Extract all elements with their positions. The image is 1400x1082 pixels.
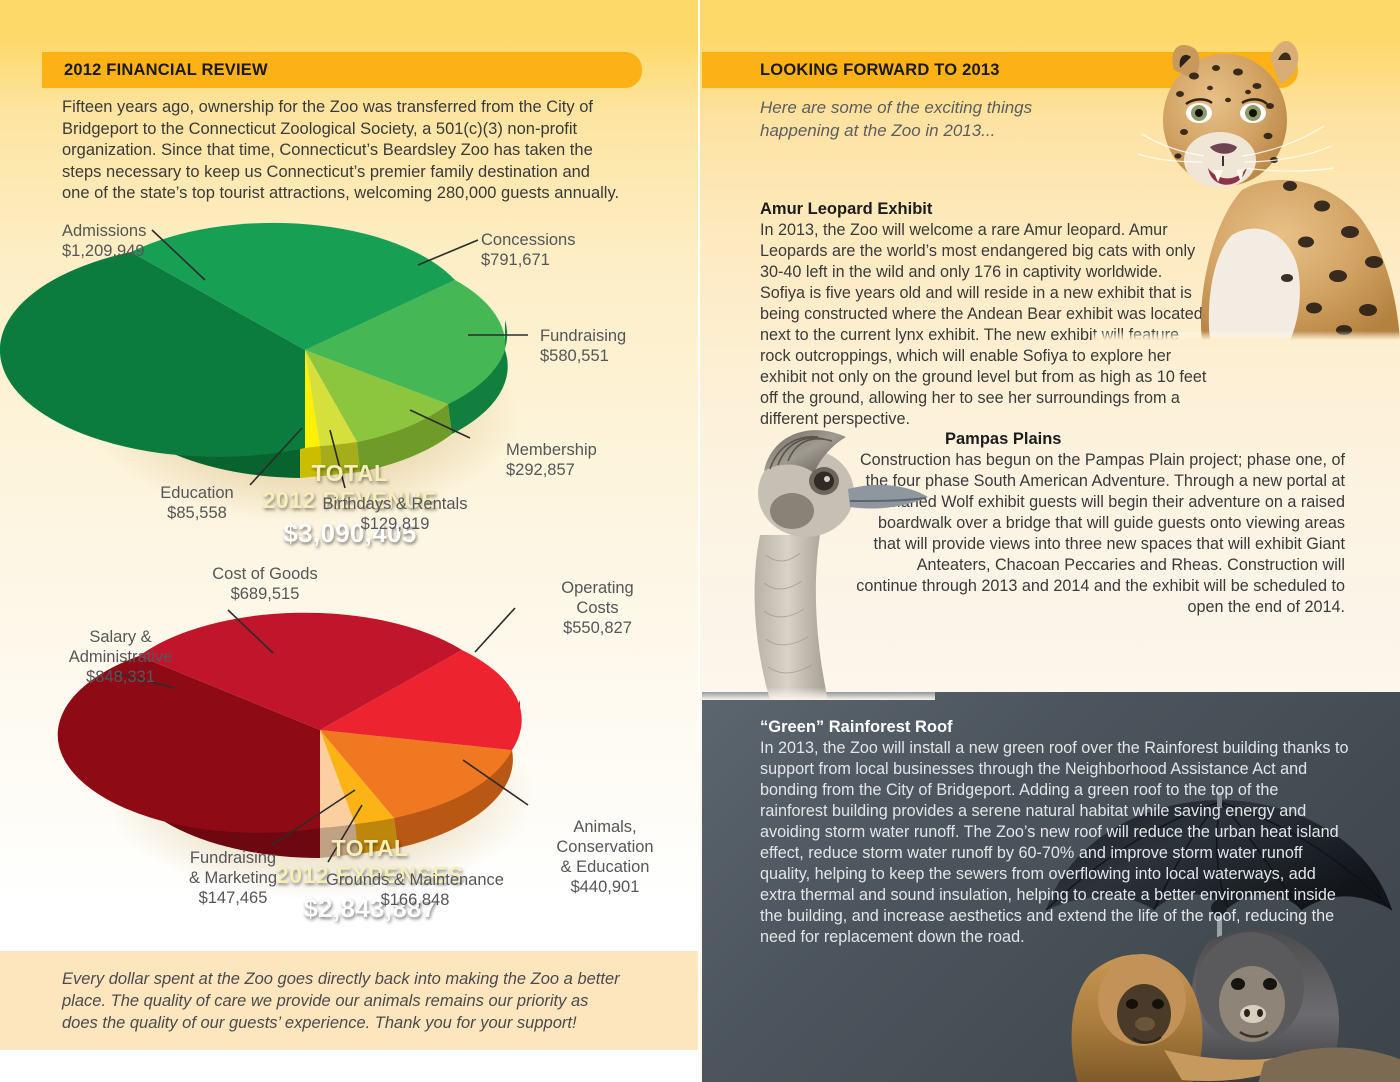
revenue-side-education bbox=[300, 446, 322, 478]
revenue-label-membership-value: $292,857 bbox=[506, 461, 575, 479]
pampas-plains-body: Construction has begun on the Pampas Pla… bbox=[855, 450, 1345, 618]
expenses-leader-operating bbox=[475, 608, 515, 652]
expenses-label-grounds-name: Grounds & Maintenance bbox=[326, 871, 504, 889]
revenue-label-fundraising-value: $580,551 bbox=[540, 347, 609, 365]
revenue-label-education-name: Education bbox=[160, 484, 233, 502]
revenue-label-concessions-value: $791,671 bbox=[481, 251, 550, 269]
revenue-label-birthdays-value: $129,819 bbox=[361, 515, 430, 533]
expenses-label-salary-value: $848,331 bbox=[86, 668, 155, 686]
expenses-label-cost-of-goods-value: $689,515 bbox=[231, 585, 300, 603]
pampas-plains-title: Pampas Plains bbox=[855, 430, 1345, 449]
financial-review-header-bar: 2012 FINANCIAL REVIEW bbox=[42, 52, 642, 88]
expenses-label-operating: Operating Costs $550,827 bbox=[545, 578, 650, 638]
column-divider bbox=[698, 0, 700, 1082]
left-column: 2012 FINANCIAL REVIEW Fifteen years ago,… bbox=[0, 0, 700, 1082]
expenses-label-animals: Animals, Conservation & Education $440,9… bbox=[540, 817, 670, 897]
expenses-label-fundraising-value: $147,465 bbox=[199, 889, 268, 907]
revenue-label-fundraising: Fundraising $580,551 bbox=[540, 326, 626, 366]
expenses-label-operating-line2: Costs bbox=[576, 599, 618, 617]
expenses-label-animals-value: $440,901 bbox=[571, 878, 640, 896]
revenue-leader-concessions bbox=[418, 240, 478, 265]
looking-forward-header-title: LOOKING FORWARD TO 2013 bbox=[702, 61, 1000, 80]
financial-review-intro-paragraph: Fifteen years ago, ownership for the Zoo… bbox=[62, 97, 622, 205]
thank-you-footer-band: Every dollar spent at the Zoo goes direc… bbox=[0, 951, 700, 1050]
pampas-plains-section: Pampas Plains Construction has begun on … bbox=[855, 430, 1345, 618]
revenue-label-fundraising-name: Fundraising bbox=[540, 327, 626, 345]
expenses-label-grounds-value: $166,848 bbox=[381, 891, 450, 909]
revenue-label-membership-name: Membership bbox=[506, 441, 597, 459]
expenses-side-fundraising-marketing bbox=[320, 824, 358, 858]
amur-leopard-section: Amur Leopard Exhibit In 2013, the Zoo wi… bbox=[760, 200, 1210, 430]
green-roof-title: “Green” Rainforest Roof bbox=[760, 718, 1350, 737]
expenses-label-fundraising-line2: & Marketing bbox=[189, 869, 277, 887]
revenue-label-concessions: Concessions $791,671 bbox=[481, 230, 575, 270]
expenses-label-animals-line1: Animals, bbox=[573, 818, 636, 836]
expenses-label-animals-line2: Conservation bbox=[556, 838, 653, 856]
right-column: LOOKING FORWARD TO 2013 Here are some of… bbox=[700, 0, 1400, 1082]
expenses-label-grounds: Grounds & Maintenance $166,848 bbox=[315, 870, 515, 910]
expenses-label-animals-line3: & Education bbox=[561, 858, 650, 876]
expenses-label-salary: Salary & Administrative $848,331 bbox=[58, 627, 183, 687]
green-roof-panel: “Green” Rainforest Roof In 2013, the Zoo… bbox=[702, 692, 1400, 1082]
green-roof-section: “Green” Rainforest Roof In 2013, the Zoo… bbox=[760, 718, 1350, 948]
brochure-page: 2012 FINANCIAL REVIEW Fifteen years ago,… bbox=[0, 0, 1400, 1082]
financial-review-header-title: 2012 FINANCIAL REVIEW bbox=[42, 61, 268, 80]
expenses-label-operating-value: $550,827 bbox=[563, 619, 632, 637]
amur-leopard-body: In 2013, the Zoo will welcome a rare Amu… bbox=[760, 220, 1210, 430]
expenses-label-salary-line2: Administrative bbox=[69, 648, 173, 666]
revenue-label-admissions-name: Admissions bbox=[62, 222, 146, 240]
expenses-label-cost-of-goods-name: Cost of Goods bbox=[212, 565, 317, 583]
looking-forward-header-bar: LOOKING FORWARD TO 2013 bbox=[702, 52, 1298, 88]
expenses-label-salary-line1: Salary & bbox=[89, 628, 151, 646]
expenses-side-grounds bbox=[355, 818, 398, 854]
revenue-label-admissions-value: $1,209,949 bbox=[62, 242, 145, 260]
expenses-label-fundraising-marketing: Fundraising & Marketing $147,465 bbox=[158, 848, 308, 908]
revenue-label-birthdays: Birthdays & Rentals $129,819 bbox=[305, 494, 485, 534]
expenses-label-operating-line1: Operating bbox=[561, 579, 633, 597]
revenue-label-education-value: $85,558 bbox=[167, 504, 227, 522]
revenue-label-birthdays-name: Birthdays & Rentals bbox=[323, 495, 468, 513]
revenue-label-admissions: Admissions $1,209,949 bbox=[62, 221, 146, 261]
expenses-label-cost-of-goods: Cost of Goods $689,515 bbox=[200, 564, 330, 604]
amur-leopard-title: Amur Leopard Exhibit bbox=[760, 200, 1210, 219]
revenue-label-concessions-name: Concessions bbox=[481, 231, 575, 249]
looking-forward-subhead: Here are some of the exciting things hap… bbox=[760, 96, 1090, 142]
revenue-label-membership: Membership $292,857 bbox=[506, 440, 597, 480]
thank-you-footer-text: Every dollar spent at the Zoo goes direc… bbox=[0, 968, 620, 1034]
expenses-label-fundraising-line1: Fundraising bbox=[190, 849, 276, 867]
revenue-label-education: Education $85,558 bbox=[142, 483, 252, 523]
green-roof-body: In 2013, the Zoo will install a new gree… bbox=[760, 738, 1350, 948]
